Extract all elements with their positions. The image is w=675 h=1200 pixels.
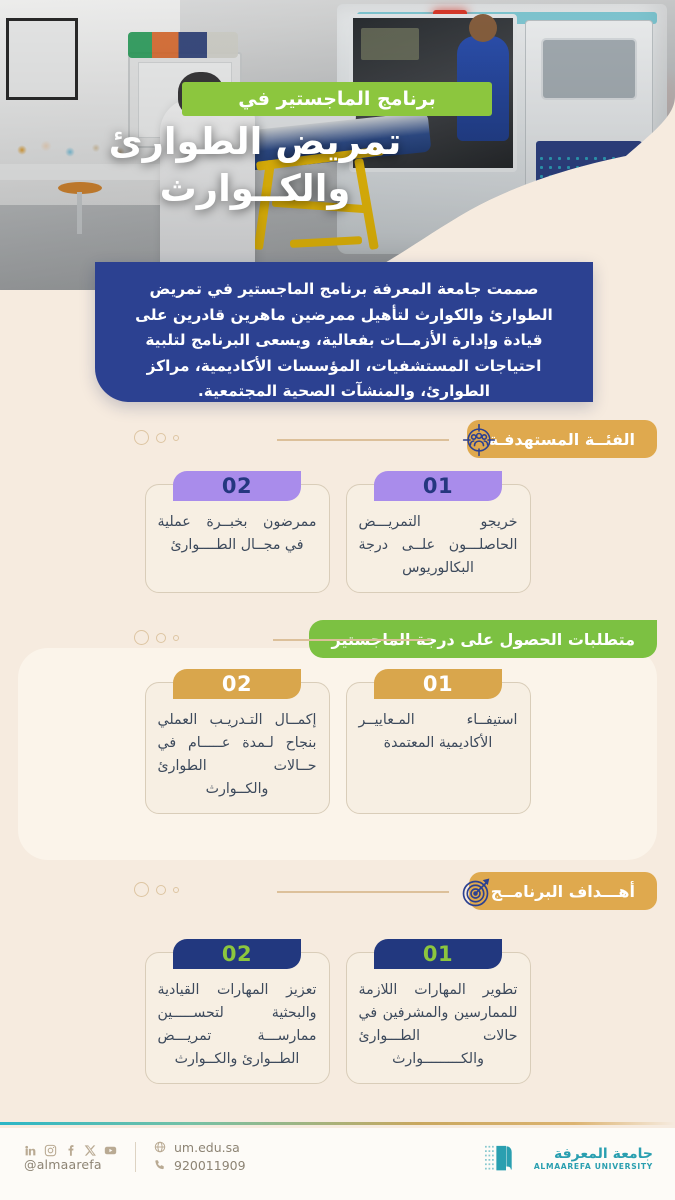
- instagram-icon[interactable]: [44, 1142, 57, 1155]
- website-text: um.edu.sa: [174, 1140, 240, 1155]
- university-logo: جامعة المعرفة ALMAAREFA UNIVERSITY: [485, 1144, 653, 1174]
- hero-section: برنامج الماجستير في تمريض الطوارئ والكــ…: [0, 0, 675, 290]
- footer-separator: [135, 1142, 136, 1172]
- card-text: خريجو التمريـــض الحاصلـــون علــى درجة …: [359, 511, 518, 580]
- cards-requirements: 02 إكمــال التـدريـب العملي بنجاح لـمدة …: [0, 682, 675, 814]
- logo-text: جامعة المعرفة ALMAAREFA UNIVERSITY: [534, 1147, 653, 1171]
- contact-column: um.edu.sa 920011909: [154, 1140, 246, 1173]
- card-number: 01: [374, 471, 502, 501]
- people-target-icon: [461, 422, 497, 458]
- phone-icon: [154, 1159, 167, 1172]
- card-text: إكمــال التـدريـب العملي بنجاح لـمدة عــ…: [158, 709, 317, 801]
- linkedin-icon[interactable]: [24, 1142, 37, 1155]
- phone-row[interactable]: 920011909: [154, 1158, 246, 1173]
- section-dots: [134, 430, 179, 445]
- card-goals-01: 01 تطوير المهارات اللازمة للممارسين والم…: [346, 952, 531, 1084]
- footer-contact-group: @almaarefa um.edu.sa 920011909: [24, 1140, 246, 1173]
- program-banner-label: برنامج الماجستير في: [182, 82, 492, 116]
- section-header-goals: أهـــداف البرنامــج: [0, 872, 675, 912]
- card-text: ممرضون بخبــرة عملية في مجــال الطــــوا…: [158, 511, 317, 557]
- dartboard-icon: [459, 874, 495, 910]
- logo-text-english: ALMAAREFA UNIVERSITY: [534, 1162, 653, 1171]
- globe-icon: [154, 1141, 167, 1154]
- intro-text: صممت جامعة المعرفة برنامج الماجستير في ت…: [95, 262, 593, 405]
- page-title: تمريض الطوارئ والكــوارث: [40, 118, 470, 213]
- section-divider-line: [277, 439, 449, 441]
- section-title-goals: أهـــداف البرنامــج: [469, 872, 657, 910]
- social-icons-row: [24, 1142, 117, 1155]
- intro-card: صممت جامعة المعرفة برنامج الماجستير في ت…: [95, 262, 593, 402]
- card-requirements-01: 01 استيفــاء المـعاييــر الأكاديمية المع…: [346, 682, 531, 814]
- section-dots: [134, 882, 179, 897]
- cards-target-audience: 02 ممرضون بخبــرة عملية في مجــال الطـــ…: [0, 484, 675, 593]
- section-header-target-audience: الفئــة المستهدفـة: [0, 420, 675, 460]
- section-header-requirements: متطلبات الحصول على درجة الماجستير: [0, 620, 675, 660]
- infographic-page: برنامج الماجستير في تمريض الطوارئ والكــ…: [0, 0, 675, 1200]
- card-text: تعزيز المهارات القيادية والبحثية لتحســـ…: [158, 979, 317, 1071]
- x-icon[interactable]: [84, 1142, 97, 1155]
- section-dots: [134, 630, 179, 645]
- card-number: 02: [173, 939, 301, 969]
- logo-book-icon: [485, 1144, 527, 1174]
- program-banner: برنامج الماجستير في: [182, 82, 492, 116]
- card-target-audience-01: 01 خريجو التمريـــض الحاصلـــون علــى در…: [346, 484, 531, 593]
- footer-divider: [0, 1122, 675, 1125]
- card-target-audience-02: 02 ممرضون بخبــرة عملية في مجــال الطـــ…: [145, 484, 330, 593]
- facebook-icon[interactable]: [64, 1142, 77, 1155]
- page-title-line1: تمريض الطوارئ: [40, 118, 470, 165]
- card-number: 01: [374, 669, 502, 699]
- page-title-line2: والكــوارث: [40, 165, 470, 212]
- phone-text: 920011909: [174, 1158, 246, 1173]
- card-text: استيفــاء المـعاييــر الأكاديمية المعتمد…: [359, 709, 518, 755]
- card-number: 02: [173, 669, 301, 699]
- logo-text-arabic: جامعة المعرفة: [554, 1147, 653, 1162]
- social-column: @almaarefa: [24, 1142, 117, 1172]
- social-handle: @almaarefa: [24, 1157, 117, 1172]
- card-number: 02: [173, 471, 301, 501]
- cards-goals: 02 تعزيز المهارات القيادية والبحثية لتحس…: [0, 952, 675, 1084]
- card-text: تطوير المهارات اللازمة للممارسين والمشرف…: [359, 979, 518, 1071]
- section-divider-line: [273, 639, 431, 641]
- footer: @almaarefa um.edu.sa 920011909: [0, 1128, 675, 1200]
- card-number: 01: [374, 939, 502, 969]
- card-goals-02: 02 تعزيز المهارات القيادية والبحثية لتحس…: [145, 952, 330, 1084]
- card-requirements-02: 02 إكمــال التـدريـب العملي بنجاح لـمدة …: [145, 682, 330, 814]
- section-divider-line: [277, 891, 449, 893]
- website-row[interactable]: um.edu.sa: [154, 1140, 246, 1155]
- youtube-icon[interactable]: [104, 1142, 117, 1155]
